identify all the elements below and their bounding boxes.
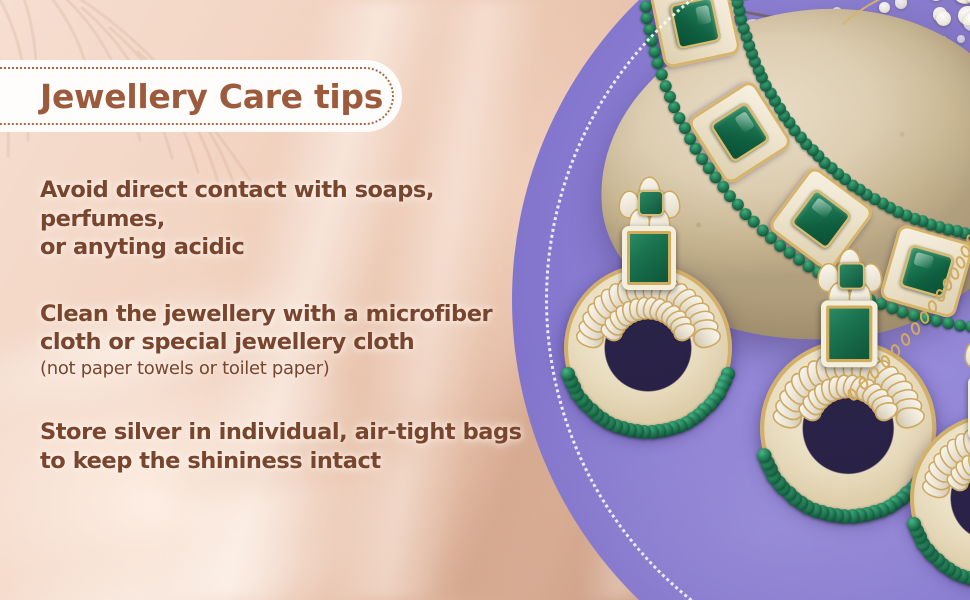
page-title: Jewellery Care tips <box>40 77 383 116</box>
tikka-chain-link <box>909 321 921 336</box>
tikka-chain-link <box>890 343 902 358</box>
tip-item-3: Store silver in individual, air-tight ba… <box>40 418 560 475</box>
tikka-chain-link <box>857 376 870 391</box>
tip-item-2: Clean the jewellery with a microfiber cl… <box>40 300 560 381</box>
chandbali-green-bead <box>907 517 921 531</box>
tikka-chain-link <box>918 310 930 325</box>
tip-3-line-1: Store silver in individual, air-tight ba… <box>40 418 560 447</box>
tip-1-line-2: or anyting acidic <box>40 233 560 262</box>
emerald-stone <box>709 101 771 163</box>
product-photo-disc <box>512 0 970 600</box>
earring-stem-emerald <box>622 226 676 290</box>
tip-2-note: (not paper towels or toilet paper) <box>40 357 560 380</box>
chandbali-green-bead <box>757 448 772 463</box>
tip-3-line-2: to keep the shininess intact <box>40 447 560 476</box>
tikka-chain-link <box>879 354 892 369</box>
tip-1-line-1: Avoid direct contact with soaps, perfume… <box>40 176 560 233</box>
chandbali-bead-rim <box>910 414 970 582</box>
chandbali-green-bead <box>561 367 575 381</box>
earring-flower-top <box>616 178 684 230</box>
emerald-stone <box>669 0 722 50</box>
tikka-chain-link <box>846 387 860 403</box>
tips-list: Avoid direct contact with soaps, perfume… <box>40 176 560 475</box>
tip-2-line-2: cloth or special jewellery cloth <box>40 328 560 357</box>
tikka-chain-link <box>868 365 881 380</box>
tikka-chain-link <box>926 299 938 314</box>
tip-2-line-1: Clean the jewellery with a microfiber <box>40 300 560 329</box>
title-pill: Jewellery Care tips <box>0 60 402 132</box>
jewellery-care-banner: Jewellery Care tips Avoid direct contact… <box>0 0 970 600</box>
chandbali-disc <box>910 414 970 582</box>
tip-item-1: Avoid direct contact with soaps, perfume… <box>40 176 560 262</box>
tikka-chain-link <box>934 288 946 303</box>
tikka-chain-link <box>900 332 912 347</box>
earring-center-emerald <box>638 190 664 216</box>
maang-tikka-chain <box>830 200 970 410</box>
